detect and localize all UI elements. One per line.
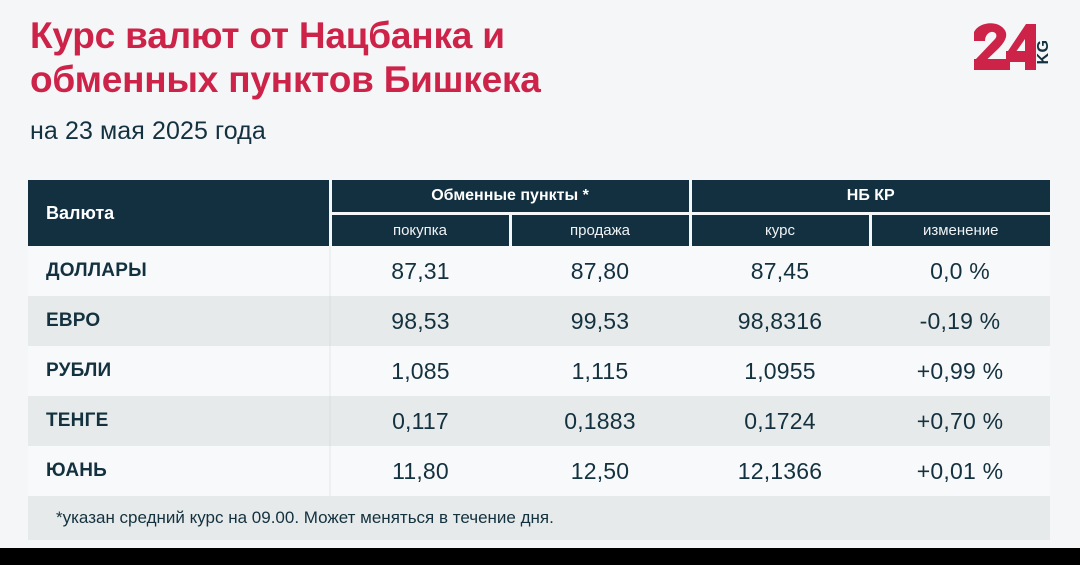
cell-rate: 87,45: [690, 246, 870, 296]
cell-currency: РУБЛИ: [28, 346, 330, 396]
table-header: Валюта Обменные пункты * НБ КР покупка п…: [28, 180, 1050, 246]
cell-change: -0,19 %: [870, 296, 1050, 346]
cell-sell: 99,53: [510, 296, 690, 346]
table-row: ЮАНЬ 11,80 12,50 12,1366 +0,01 %: [28, 446, 1050, 496]
cell-rate: 98,8316: [690, 296, 870, 346]
column-header-sell: продажа: [510, 214, 690, 247]
table-row: ЕВРО 98,53 99,53 98,8316 -0,19 %: [28, 296, 1050, 346]
logo-suffix-kg: KG: [1035, 40, 1052, 65]
table-footnote-row: *указан средний курс на 09.00. Может мен…: [28, 496, 1050, 540]
bottom-bar: [0, 548, 1080, 565]
table-row: ДОЛЛАРЫ 87,31 87,80 87,45 0,0 %: [28, 246, 1050, 296]
cell-buy: 87,31: [330, 246, 510, 296]
cell-sell: 0,1883: [510, 396, 690, 446]
cell-buy: 11,80: [330, 446, 510, 496]
header: Курс валют от Нацбанка и обменных пункто…: [30, 14, 1050, 154]
cell-sell: 1,115: [510, 346, 690, 396]
column-group-nbkr: НБ КР: [690, 180, 1050, 214]
cell-rate: 0,1724: [690, 396, 870, 446]
brand-logo-24kg: KG: [962, 18, 1058, 80]
table-footnote: *указан средний курс на 09.00. Может мен…: [28, 496, 1050, 540]
cell-currency: ЕВРО: [28, 296, 330, 346]
cell-currency: ТЕНГЕ: [28, 396, 330, 446]
cell-change: +0,01 %: [870, 446, 1050, 496]
column-header-rate: курс: [690, 214, 870, 247]
cell-buy: 98,53: [330, 296, 510, 346]
cell-buy: 1,085: [330, 346, 510, 396]
column-header-buy: покупка: [330, 214, 510, 247]
logo-number-24-icon: [974, 23, 1036, 70]
cell-change: +0,99 %: [870, 346, 1050, 396]
cell-change: +0,70 %: [870, 396, 1050, 446]
cell-rate: 12,1366: [690, 446, 870, 496]
exchange-rates-table: Валюта Обменные пункты * НБ КР покупка п…: [28, 180, 1050, 540]
page-title-line-2: обменных пунктов Бишкека: [30, 58, 730, 102]
page-title: Курс валют от Нацбанка и обменных пункто…: [30, 14, 730, 101]
cell-currency: ДОЛЛАРЫ: [28, 246, 330, 296]
cell-sell: 87,80: [510, 246, 690, 296]
column-header-change: изменение: [870, 214, 1050, 247]
cell-currency: ЮАНЬ: [28, 446, 330, 496]
cell-buy: 0,117: [330, 396, 510, 446]
table-body: ДОЛЛАРЫ 87,31 87,80 87,45 0,0 % ЕВРО 98,…: [28, 246, 1050, 540]
cell-rate: 1,0955: [690, 346, 870, 396]
column-header-currency: Валюта: [28, 180, 330, 246]
cell-sell: 12,50: [510, 446, 690, 496]
table-header-row-groups: Валюта Обменные пункты * НБ КР: [28, 180, 1050, 214]
column-group-exchange-points: Обменные пункты *: [330, 180, 690, 214]
table-row: РУБЛИ 1,085 1,115 1,0955 +0,99 %: [28, 346, 1050, 396]
infographic-page: Курс валют от Нацбанка и обменных пункто…: [0, 0, 1080, 565]
table-row: ТЕНГЕ 0,117 0,1883 0,1724 +0,70 %: [28, 396, 1050, 446]
cell-change: 0,0 %: [870, 246, 1050, 296]
page-title-line-1: Курс валют от Нацбанка и: [30, 14, 730, 58]
page-subtitle: на 23 мая 2025 года: [30, 101, 1050, 146]
